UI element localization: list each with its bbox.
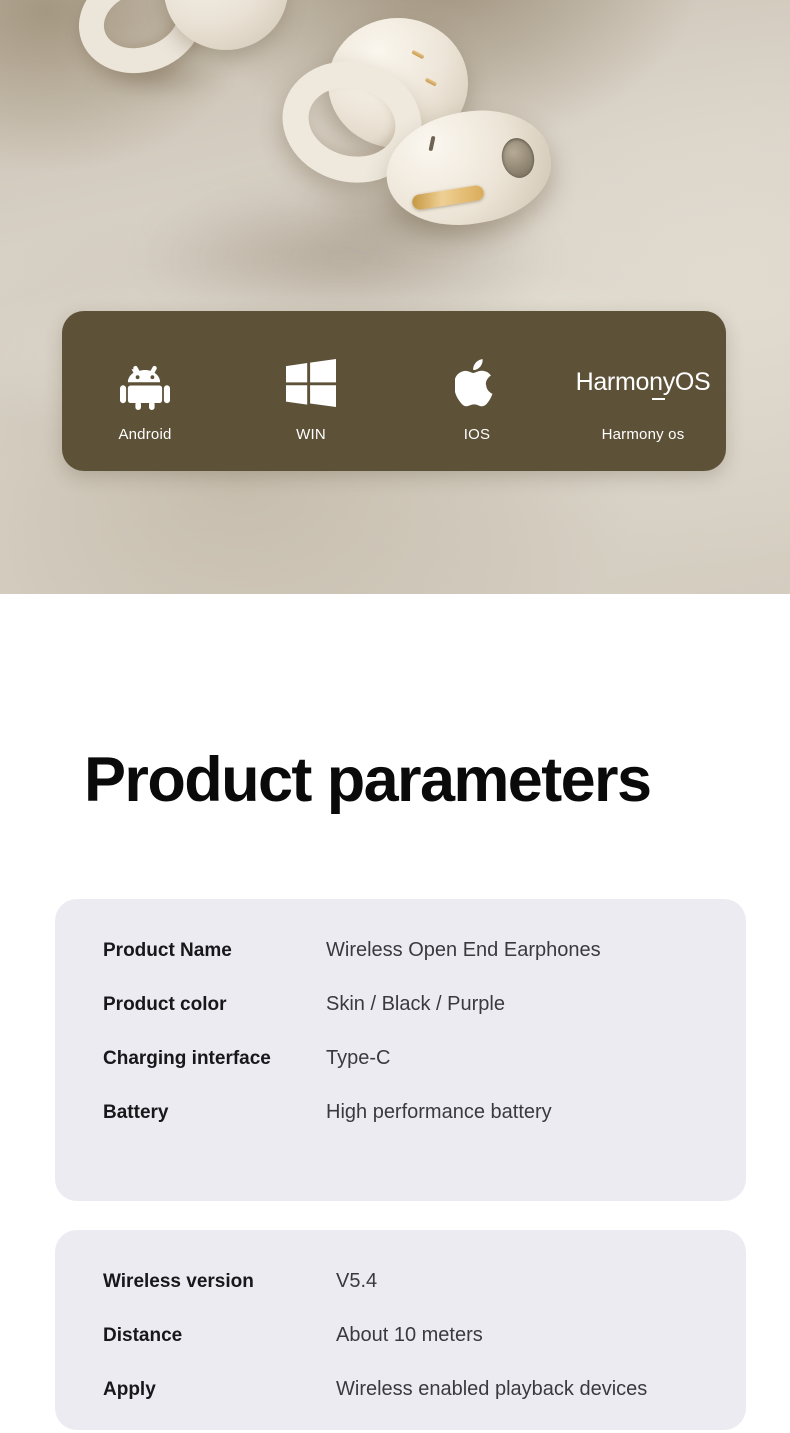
harmonyos-wordmark-text: HarmonyOS (576, 368, 711, 396)
spec-row: Battery High performance battery (55, 1101, 746, 1124)
spec-row: Distance About 10 meters (55, 1324, 746, 1347)
spec-value: About 10 meters (336, 1324, 483, 1347)
spec-label: Wireless version (103, 1271, 336, 1293)
spec-label: Battery (103, 1102, 326, 1124)
spec-value: Wireless Open End Earphones (326, 939, 601, 962)
os-compatibility-bar: Android WIN (62, 311, 726, 471)
os-item-label: Android (118, 426, 171, 443)
spec-row: Product color Skin / Black / Purple (55, 993, 746, 1016)
earphone-left-cropped (78, 0, 288, 84)
spec-label: Distance (103, 1325, 336, 1347)
spec-label: Charging interface (103, 1048, 326, 1070)
harmonyos-underscore-mark (652, 398, 665, 400)
spec-row: Product Name Wireless Open End Earphones (55, 939, 746, 962)
spec-row: Wireless version V5.4 (55, 1270, 746, 1293)
spec-value: Skin / Black / Purple (326, 993, 505, 1016)
spec-label: Apply (103, 1379, 336, 1401)
os-item-win: WIN (228, 340, 394, 443)
harmonyos-wordmark-icon: HarmonyOS (576, 352, 711, 414)
earphone-right-main (300, 18, 570, 248)
spec-label: Product color (103, 994, 326, 1016)
spec-row: Charging interface Type-C (55, 1047, 746, 1070)
page-title: Product parameters (0, 749, 790, 812)
os-item-label: Harmony os (602, 426, 685, 443)
spec-value: Wireless enabled playback devices (336, 1378, 647, 1401)
os-item-harmonyos: HarmonyOS Harmony os (560, 340, 726, 443)
os-item-label: IOS (464, 426, 490, 443)
android-icon (120, 352, 170, 414)
os-item-android: Android (62, 340, 228, 443)
apple-icon (455, 352, 499, 414)
spec-value: Type-C (326, 1047, 390, 1070)
spec-row: Apply Wireless enabled playback devices (55, 1378, 746, 1401)
os-item-label: WIN (296, 426, 326, 443)
spec-card-general: Product Name Wireless Open End Earphones… (55, 899, 746, 1201)
windows-icon (286, 352, 336, 414)
product-parameters-section: Product parameters Product Name Wireless… (0, 594, 790, 812)
os-item-ios: IOS (394, 340, 560, 443)
spec-label: Product Name (103, 940, 326, 962)
spec-value: V5.4 (336, 1270, 377, 1293)
spec-value: High performance battery (326, 1101, 552, 1124)
product-hero-photo: Android WIN (0, 0, 790, 594)
spec-card-connectivity: Wireless version V5.4 Distance About 10 … (55, 1230, 746, 1430)
